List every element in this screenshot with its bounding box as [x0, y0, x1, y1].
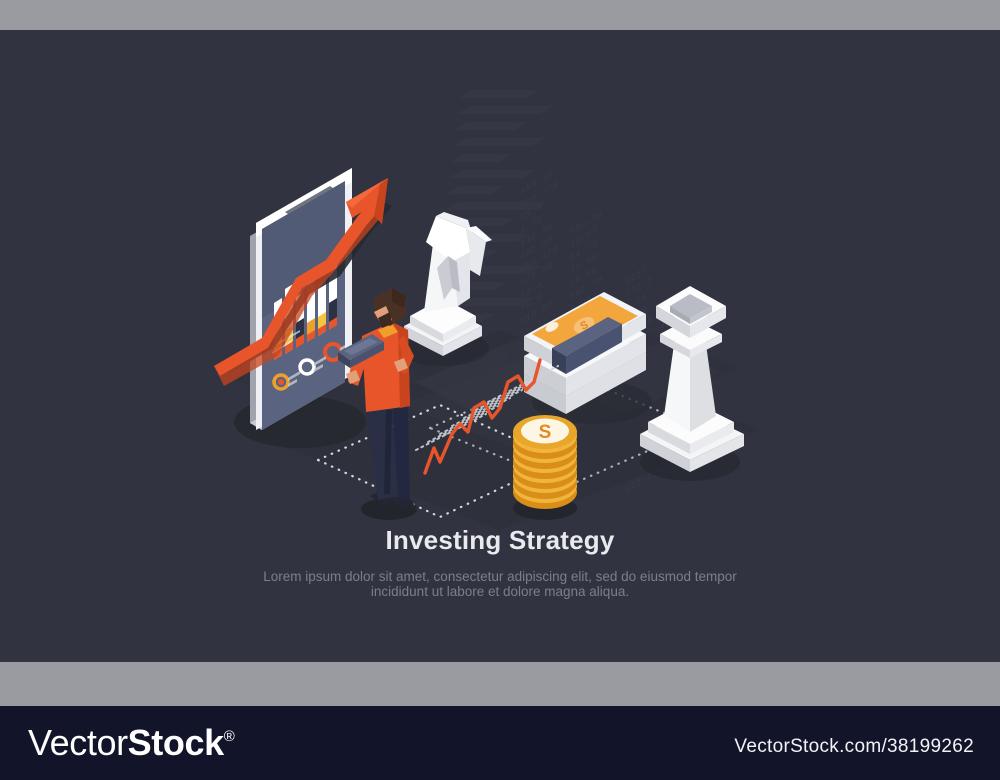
watermark-footer: VectorStock® VectorStock.com/38199262 [0, 706, 1000, 780]
screenshot-root: 453.46158.478 19.41.78 110.58492.40 158.… [0, 0, 1000, 780]
page-title: Investing Strategy [0, 525, 1000, 556]
registered-trademark-icon: ® [224, 728, 235, 745]
vectorstock-logo[interactable]: VectorStock® [28, 722, 234, 764]
logo-text-vector: Vector [28, 722, 128, 763]
coin-stack: S [513, 415, 577, 509]
illustration-canvas: 453.46158.478 19.41.78 110.58492.40 158.… [0, 30, 1000, 662]
isometric-scene: 453.46158.478 19.41.78 110.58492.40 158.… [0, 30, 1000, 662]
caption-body-text: Lorem ipsum dolor sit amet, consectetur … [250, 570, 750, 599]
watermark-url[interactable]: VectorStock.com/38199262 [734, 736, 974, 758]
coin-dollar-symbol: S [539, 422, 552, 443]
logo-text-stock: Stock [128, 722, 224, 763]
